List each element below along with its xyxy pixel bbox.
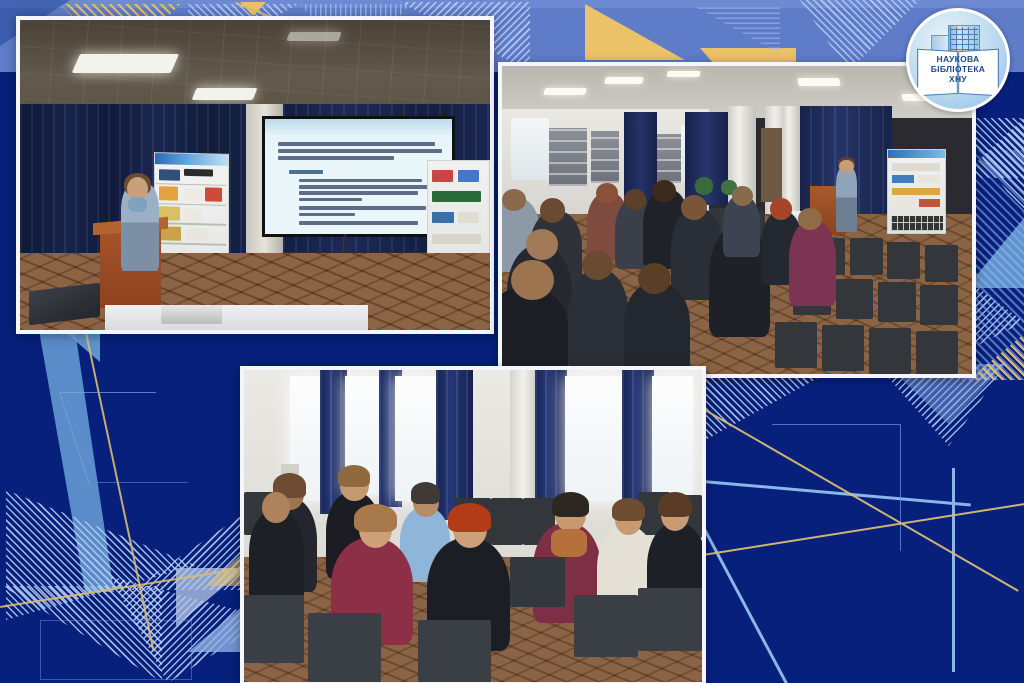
banner-triangle-hatched-horizontal	[690, 4, 780, 54]
chair	[920, 285, 958, 325]
audience-member-head	[526, 229, 559, 260]
ceiling-lamp-1	[72, 54, 179, 73]
ceiling-lamp-3	[286, 32, 341, 41]
chair	[491, 498, 523, 545]
room-curtain-4	[535, 370, 567, 507]
banner-triangle-gold-1	[585, 4, 685, 60]
logo-circle-background: НАУКОВА БІБЛІОТЕКА ХНУ	[906, 8, 1010, 112]
audience-member	[568, 269, 629, 374]
projector	[161, 305, 222, 324]
front-table	[105, 305, 368, 330]
audience-member-head	[798, 208, 822, 230]
attendee-hair	[658, 492, 692, 517]
photo-presenter-podium[interactable]	[16, 16, 494, 334]
room-window-4	[565, 376, 625, 501]
chair	[418, 620, 491, 682]
student-hair	[411, 482, 440, 504]
audience-member-head	[511, 260, 553, 300]
logo-text-line-2: БІБЛІОТЕКА	[909, 64, 1007, 74]
chair	[244, 595, 304, 664]
room-window-5	[652, 376, 693, 501]
hall-ceiling-lamp-1	[543, 88, 588, 95]
audience-member-head	[596, 183, 618, 203]
hall-window-1	[511, 118, 549, 180]
projection-screen-surface	[265, 119, 452, 234]
hall-presenter-body	[836, 168, 858, 233]
chair	[925, 245, 958, 282]
collage-canvas: НАУКОВА БІБЛІОТЕКА ХНУ	[0, 0, 1024, 683]
audience-member-head	[638, 263, 671, 294]
chair	[308, 613, 381, 682]
hall-ceiling-lamp-3	[666, 71, 700, 77]
hall-door	[761, 128, 782, 202]
attendee-scarf	[551, 529, 588, 557]
hall-display-rack	[887, 149, 945, 234]
audience-member-head	[652, 180, 676, 202]
background-geometry-right	[690, 360, 1024, 683]
student	[249, 510, 304, 604]
chair	[916, 331, 958, 374]
chair	[775, 322, 817, 368]
hall-presenter-head	[839, 160, 853, 174]
bookshelf-2	[591, 131, 619, 183]
logo-text-block: НАУКОВА БІБЛІОТЕКА ХНУ	[909, 54, 1007, 84]
library-logo[interactable]: НАУКОВА БІБЛІОТЕКА ХНУ	[906, 8, 1010, 112]
presenter-scarf	[128, 197, 147, 213]
student-hair	[354, 504, 397, 532]
chair	[510, 557, 565, 607]
room-curtain-5	[622, 370, 654, 507]
hall-ceiling-lamp-4	[797, 78, 841, 86]
logo-text-line-3: ХНУ	[909, 74, 1007, 84]
student-head	[262, 492, 289, 523]
audience-member-head	[681, 195, 707, 220]
student-hair	[448, 503, 491, 533]
chair	[822, 325, 864, 371]
photo-audience-hall-content	[502, 66, 972, 374]
photo-presenter-podium-content	[20, 20, 490, 330]
bookshelf-1	[549, 128, 587, 187]
photo-seated-students-content	[244, 370, 702, 682]
attendee-hair	[552, 492, 589, 517]
chair	[574, 595, 638, 657]
audience-member-head	[732, 186, 753, 206]
hall-ceiling-lamp-2	[604, 77, 644, 84]
hall-rack-header	[888, 150, 944, 158]
chair	[887, 242, 920, 279]
ceiling-lamp-2	[191, 88, 257, 100]
audience-member-head	[582, 251, 613, 280]
chair	[850, 238, 883, 275]
chair	[836, 279, 874, 319]
chair	[878, 282, 916, 322]
logo-text-line-1: НАУКОВА	[909, 54, 1007, 64]
room-pillar	[510, 370, 537, 514]
attendee-hair	[612, 498, 645, 521]
bg-outline-rect-left-1	[40, 620, 192, 680]
audience-member	[789, 220, 836, 306]
chair	[869, 328, 911, 374]
rack-header-banner	[155, 153, 228, 166]
audience-member	[624, 282, 690, 374]
audience-member-head	[624, 189, 646, 209]
audience-member-head	[502, 189, 526, 211]
chair	[638, 588, 702, 650]
student-hair	[338, 465, 370, 487]
photo-seated-students[interactable]	[240, 366, 706, 683]
photo-audience-hall[interactable]	[498, 62, 976, 378]
audience-member	[502, 288, 568, 374]
